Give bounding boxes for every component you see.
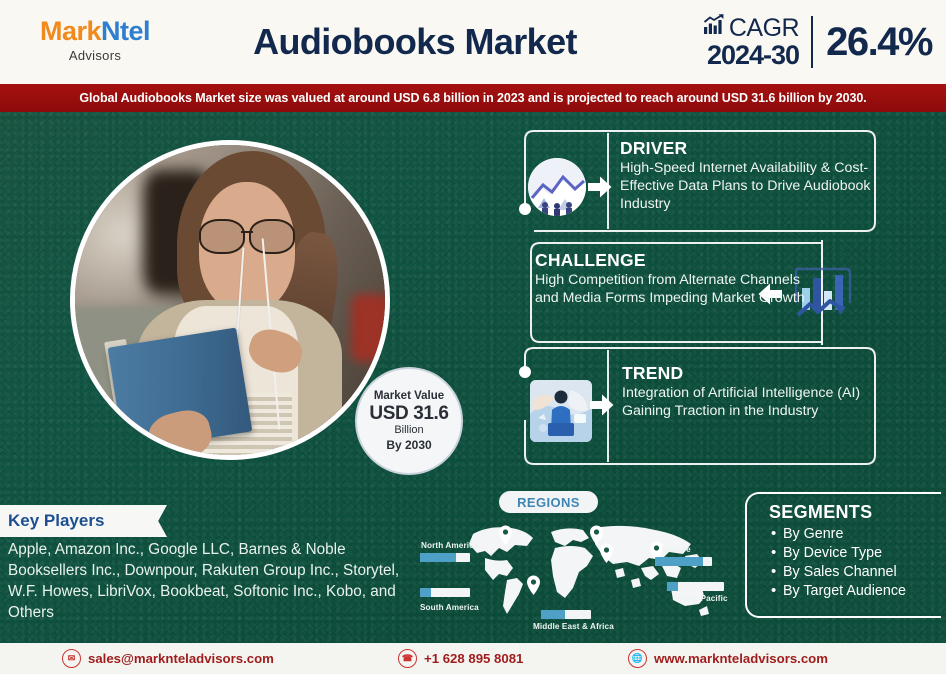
region-label-middle-east-africa: Middle East & Africa xyxy=(533,622,614,631)
segment-item: By Sales Channel xyxy=(783,563,941,582)
footer-bar: ✉ sales@marknteladvisors.com ☎ +1 628 89… xyxy=(0,643,946,674)
footer-phone[interactable]: ☎ +1 628 895 8081 xyxy=(398,649,523,668)
header-bar: MarkNtel Advisors Audiobooks Market xyxy=(0,0,946,86)
trend-arrow-icon xyxy=(590,394,614,421)
cagr-label-row: CAGR xyxy=(703,14,799,41)
growth-chart-icon xyxy=(703,14,726,39)
region-label-asia-pacific: Asia-Pacific xyxy=(680,594,728,603)
key-players-list: Apple, Amazon Inc., Google LLC, Barnes &… xyxy=(8,540,408,624)
region-bar-europe xyxy=(655,557,712,566)
market-value-amount: USD 31.6 xyxy=(369,404,448,424)
challenge-body: High Competition from Alternate Channels… xyxy=(535,272,805,308)
globe-icon: 🌐 xyxy=(628,649,647,668)
region-bar-middle-east-africa xyxy=(541,610,591,619)
logo-part-ntel: Ntel xyxy=(101,16,150,46)
region-bar-asia-pacific xyxy=(667,582,724,591)
page-title: Audiobooks Market xyxy=(175,0,655,84)
trend-body: Integration of Artificial Intelligence (… xyxy=(622,385,872,421)
challenge-title: CHALLENGE xyxy=(535,250,805,271)
insight-card-trend: TREND Integration of Artificial Intellig… xyxy=(622,363,872,421)
region-bar-north-america xyxy=(420,553,470,562)
cagr-label: CAGR xyxy=(729,16,799,42)
footer-website-text: www.marknteladvisors.com xyxy=(654,651,828,666)
footer-website[interactable]: 🌐 www.marknteladvisors.com xyxy=(628,649,828,668)
regions-heading: REGIONS xyxy=(499,491,598,513)
cagr-left: CAGR 2024-30 xyxy=(703,14,811,69)
market-value-label: Market Value xyxy=(374,390,444,402)
market-value-badge: Market Value USD 31.6 Billion By 2030 xyxy=(355,367,463,475)
segment-item: By Genre xyxy=(783,525,941,544)
logo-part-mark: Mark xyxy=(40,16,101,46)
footer-email-text: sales@marknteladvisors.com xyxy=(88,651,274,666)
region-label-south-america: South America xyxy=(420,603,479,612)
footer-phone-text: +1 628 895 8081 xyxy=(424,651,523,666)
mountain-growth-icon xyxy=(528,158,586,216)
segment-item: By Target Audience xyxy=(783,582,941,601)
logo-wordmark: MarkNtel xyxy=(20,18,170,45)
cagr-value: 26.4% xyxy=(813,20,932,65)
logo-subtitle: Advisors xyxy=(20,48,170,63)
summary-banner: Global Audiobooks Market size was valued… xyxy=(0,84,946,112)
segments-list: By Genre By Device Type By Sales Channel… xyxy=(769,525,941,602)
insight-card-driver: DRIVER High-Speed Internet Availability … xyxy=(620,138,875,214)
cagr-years: 2024-30 xyxy=(703,42,799,70)
region-label-north-america: North America xyxy=(421,541,478,550)
region-bar-south-america xyxy=(420,588,470,597)
photo-woman-listening-audiobook xyxy=(75,145,385,455)
envelope-icon: ✉ xyxy=(62,649,81,668)
segments-panel: SEGMENTS By Genre By Device Type By Sale… xyxy=(745,492,941,618)
phone-icon: ☎ xyxy=(398,649,417,668)
driver-title: DRIVER xyxy=(620,138,875,159)
region-label-europe: Europe xyxy=(662,545,691,554)
infographic-page: MarkNtel Advisors Audiobooks Market xyxy=(0,0,946,674)
hero-photo xyxy=(70,140,390,460)
segment-item: By Device Type xyxy=(783,544,941,563)
trend-title: TREND xyxy=(622,363,872,384)
driver-body: High-Speed Internet Availability & Cost-… xyxy=(620,160,875,214)
market-value-unit: Billion xyxy=(394,425,423,437)
key-players-heading: Key Players xyxy=(0,505,153,537)
market-value-year: By 2030 xyxy=(386,439,431,452)
footer-email[interactable]: ✉ sales@marknteladvisors.com xyxy=(62,649,274,668)
cagr-block: CAGR 2024-30 26.4% xyxy=(703,8,932,76)
driver-arrow-icon xyxy=(588,176,612,203)
segments-heading: SEGMENTS xyxy=(769,502,941,523)
insight-card-challenge: CHALLENGE High Competition from Alternat… xyxy=(535,250,805,308)
ai-person-icon xyxy=(530,380,592,442)
brand-logo[interactable]: MarkNtel Advisors xyxy=(20,18,170,63)
